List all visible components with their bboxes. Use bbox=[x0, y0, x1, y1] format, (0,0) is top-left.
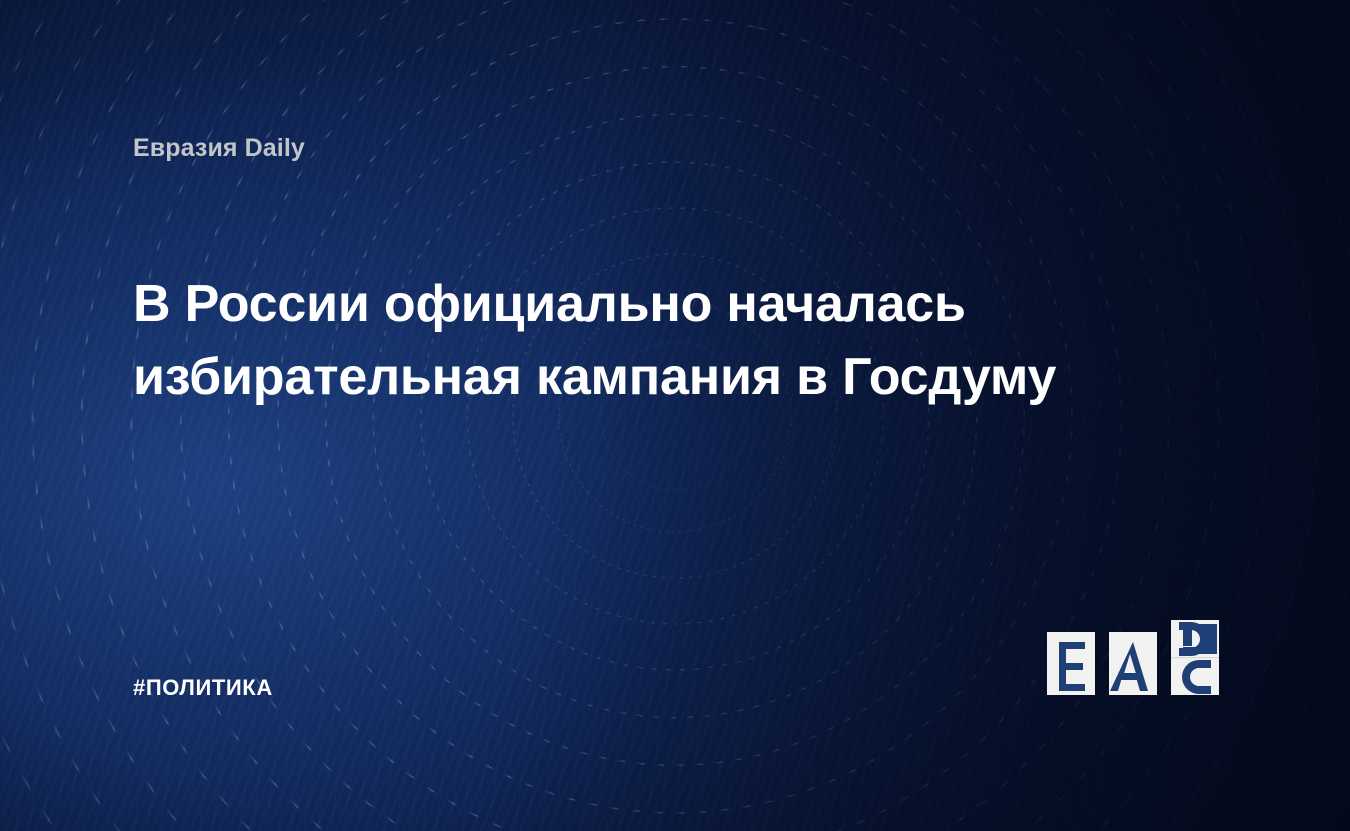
card-content: Евразия Daily В России официально начала… bbox=[0, 0, 1350, 831]
article-headline: В России официально началась избирательн… bbox=[133, 268, 1133, 414]
news-card: Евразия Daily В России официально начала… bbox=[0, 0, 1350, 831]
category-tag[interactable]: #ПОЛИТИКА bbox=[133, 675, 273, 701]
logo-tile-d bbox=[1171, 620, 1219, 695]
eadaily-logo[interactable] bbox=[1047, 618, 1227, 708]
logo-tile-a bbox=[1109, 632, 1157, 695]
brand-name: Евразия Daily bbox=[133, 134, 305, 163]
logo-tile-e bbox=[1047, 632, 1095, 695]
